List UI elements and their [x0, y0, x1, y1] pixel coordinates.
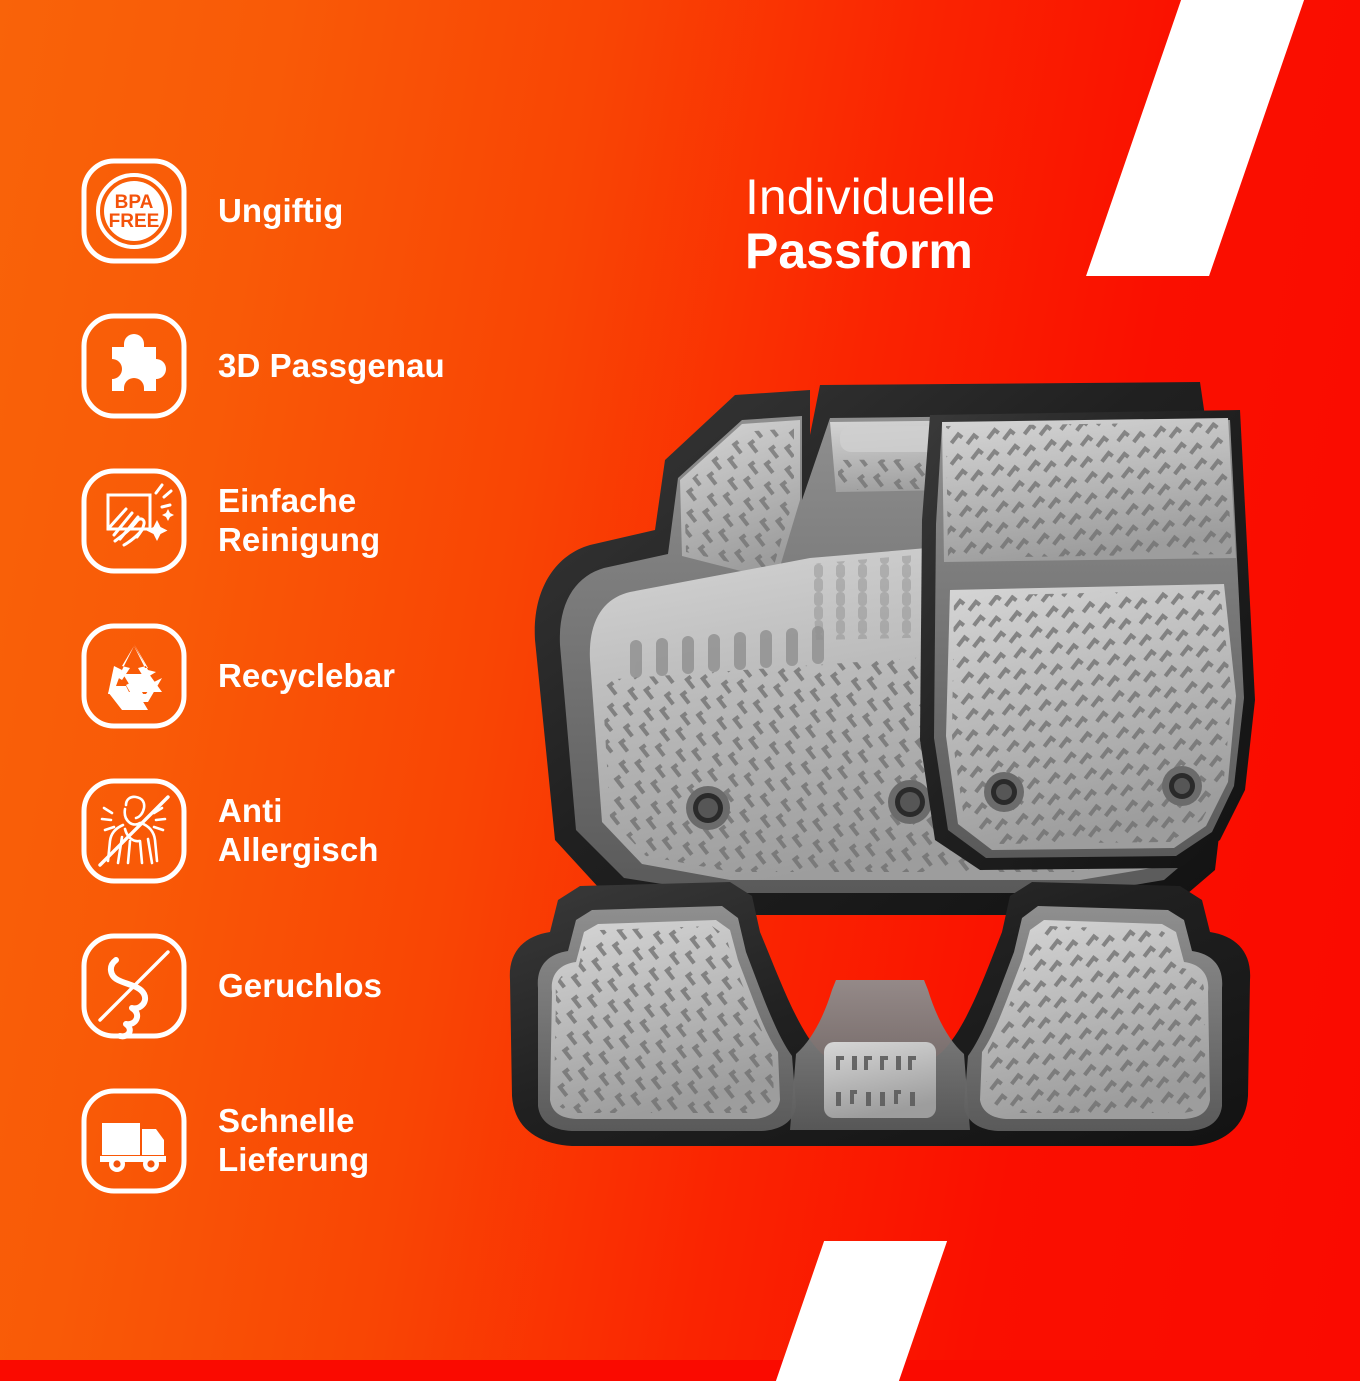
- feature-label: Einfache Reinigung: [218, 482, 380, 559]
- feature-label: Recyclebar: [218, 657, 395, 696]
- bpa-free-text-line-2: FREE: [109, 211, 160, 232]
- feature-label: Geruchlos: [218, 967, 382, 1006]
- easy-cleaning-icon: [78, 465, 190, 577]
- anti-allergy-icon: [78, 775, 190, 887]
- feature-item-einfache-reinigung: Einfache Reinigung: [78, 465, 538, 577]
- headline-line-1: Individuelle: [745, 170, 995, 224]
- feature-label: Schnelle Lieferung: [218, 1102, 369, 1179]
- recycle-icon: [78, 620, 190, 732]
- feature-item-recyclebar: Recyclebar: [78, 620, 538, 732]
- no-odour-icon: [78, 930, 190, 1042]
- feature-label: Anti Allergisch: [218, 792, 379, 869]
- headline: Individuelle Passform: [745, 170, 995, 278]
- feature-item-schnelle-lieferung: Schnelle Lieferung: [78, 1085, 538, 1197]
- feature-item-anti-allergisch: Anti Allergisch: [78, 775, 538, 887]
- feature-label: 3D Passgenau: [218, 347, 445, 386]
- feature-item-ungiftig: BPA FREE Ungiftig: [78, 155, 538, 267]
- mat-fastener: [686, 786, 730, 830]
- headline-line-2: Passform: [745, 224, 995, 278]
- feature-label: Ungiftig: [218, 192, 343, 231]
- feature-list: BPA FREE Ungiftig 3D Passgenau: [78, 155, 538, 1197]
- delivery-truck-icon: [78, 1085, 190, 1197]
- rear-bench-mat: [510, 882, 1250, 1146]
- mat-fastener: [888, 780, 932, 824]
- feature-item-geruchlos: Geruchlos: [78, 930, 538, 1042]
- mat-fastener: [984, 772, 1024, 812]
- feature-item-3d-passgenau: 3D Passgenau: [78, 310, 538, 422]
- bpa-free-text-line-1: BPA: [115, 192, 154, 213]
- puzzle-piece-icon: [78, 310, 190, 422]
- bpa-free-icon: BPA FREE: [78, 155, 190, 267]
- passenger-side-mat: [920, 410, 1255, 870]
- mat-fastener: [1162, 766, 1202, 806]
- car-floor-mat-set: [480, 340, 1280, 1170]
